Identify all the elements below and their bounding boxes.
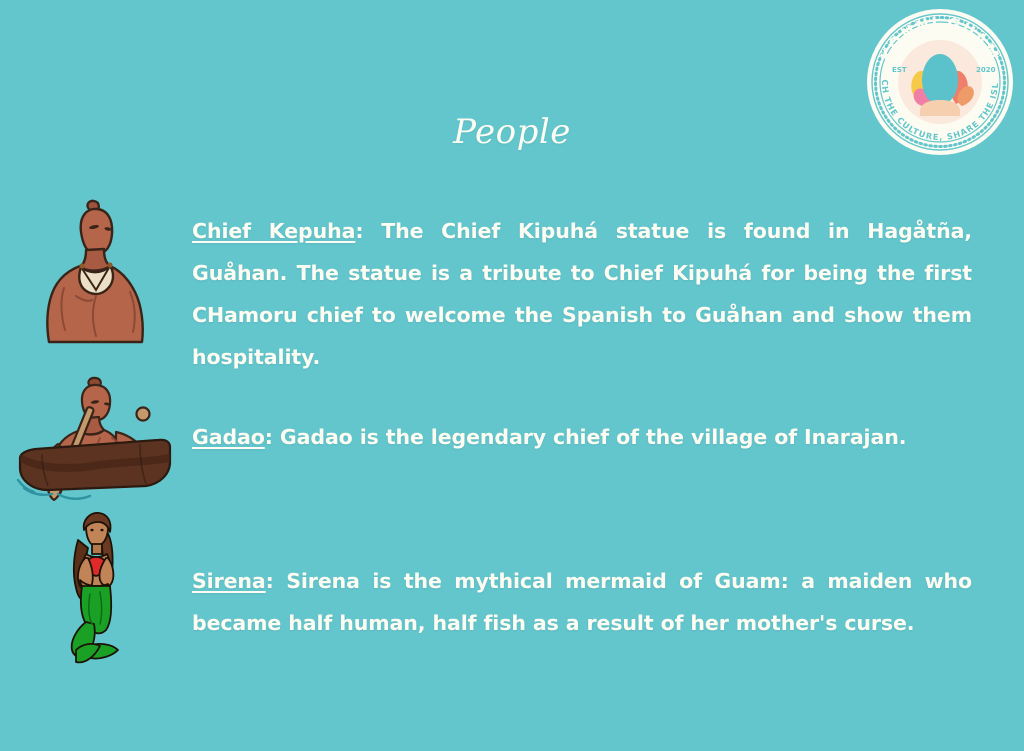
slide-canvas: KONNI GUAM CATCH THE CULTURE, SHARE THE … (0, 0, 1024, 751)
entry-row-gadao: Gadao: Gadao is the legendary chief of t… (0, 372, 1024, 504)
logo-est-label: EST (892, 66, 907, 74)
entry-text-gadao: Gadao: Gadao is the legendary chief of t… (192, 372, 1024, 458)
entry-lead-sirena: Sirena (192, 569, 266, 593)
entry-body-sirena: Sirena is the mythical mermaid of Guam: … (192, 569, 972, 635)
entry-lead-kepuha: Chief Kepuha (192, 219, 355, 243)
entry-separator-sirena: : (266, 569, 287, 593)
entry-row-kepuha: Chief Kepuha: The Chief Kipuhá statue is… (0, 196, 1024, 378)
entry-text-sirena: Sirena: Sirena is the mythical mermaid o… (192, 506, 1024, 644)
chief-bust-illustration (0, 196, 192, 346)
canoe-paddler-illustration (0, 372, 192, 504)
entry-row-sirena: Sirena: Sirena is the mythical mermaid o… (0, 506, 1024, 668)
entry-lead-gadao: Gadao (192, 425, 265, 449)
entry-separator-gadao: : (265, 425, 280, 449)
entry-body-gadao: Gadao is the legendary chief of the vill… (280, 425, 907, 449)
page-title: People (0, 112, 1024, 152)
mermaid-illustration (0, 506, 192, 668)
logo-est-year: 2020 (976, 66, 996, 74)
entry-separator-kepuha: : (355, 219, 381, 243)
entry-text-kepuha: Chief Kepuha: The Chief Kipuhá statue is… (192, 196, 1024, 378)
